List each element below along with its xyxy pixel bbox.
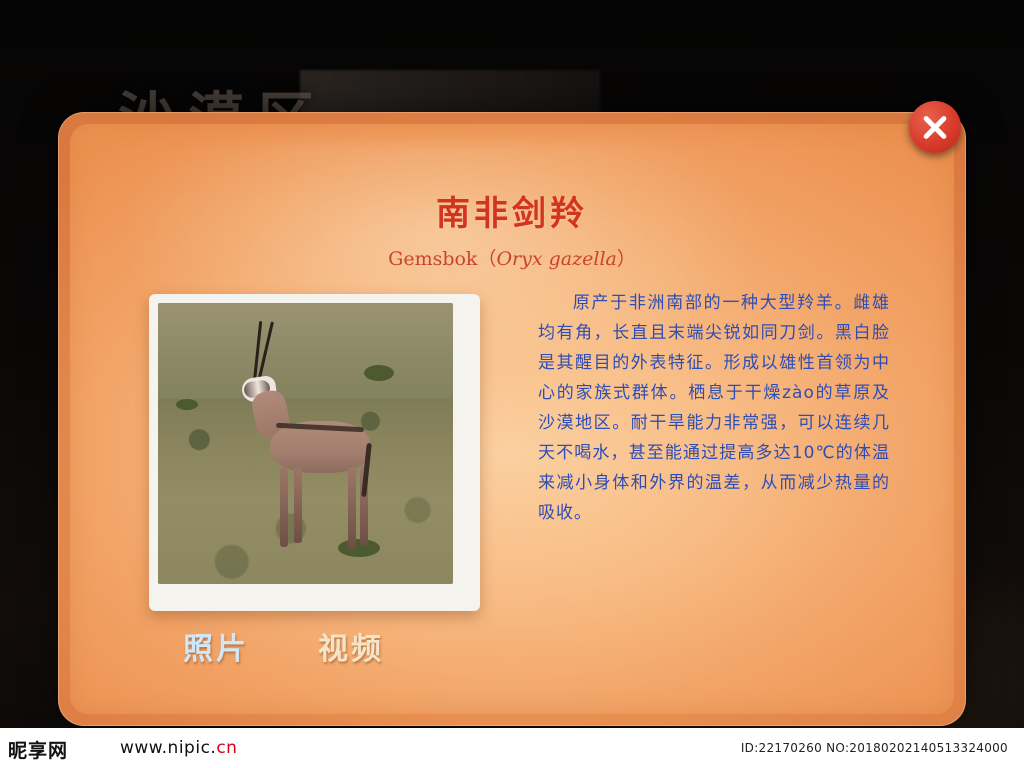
watermark-logo-text: 昵享网 bbox=[8, 740, 68, 762]
subtitle: Gemsbok（Oryx gazella） bbox=[70, 244, 954, 271]
photo-bush bbox=[338, 539, 380, 557]
photo-tab-button[interactable]: 照片 bbox=[183, 624, 249, 668]
watermark-logo: 昵享网 bbox=[8, 736, 68, 763]
photo-sky bbox=[158, 303, 453, 410]
oryx-leg bbox=[348, 467, 356, 549]
photo-bush bbox=[364, 365, 394, 381]
page-title: 南非剑羚 bbox=[70, 186, 954, 235]
oryx-leg bbox=[280, 467, 288, 547]
oryx-leg bbox=[294, 467, 302, 543]
watermark-url-main: www.nipic. bbox=[120, 738, 216, 758]
info-dialog: 南非剑羚 Gemsbok（Oryx gazella） bbox=[58, 112, 966, 726]
close-icon[interactable] bbox=[909, 101, 961, 153]
watermark-bar: 昵享网 www.nipic.cn ID:22170260 NO:20180202… bbox=[0, 728, 1024, 768]
subtitle-paren-close: ） bbox=[617, 248, 636, 270]
animal-photo bbox=[158, 303, 453, 584]
watermark-url-tld: cn bbox=[216, 738, 237, 758]
video-tab-button[interactable]: 视频 bbox=[318, 624, 384, 668]
animal-photo-frame[interactable] bbox=[149, 294, 480, 611]
screen: 沙漠区 南非剑羚 Gemsbok（Oryx gazella） bbox=[0, 0, 1024, 768]
subtitle-paren-open: （ bbox=[477, 248, 496, 270]
watermark-url: www.nipic.cn bbox=[120, 738, 237, 758]
dialog-inner-surface: 南非剑羚 Gemsbok（Oryx gazella） bbox=[70, 124, 954, 714]
photo-bush bbox=[176, 399, 198, 410]
description-text: 原产于非洲南部的一种大型羚羊。雌雄均有角，长直且末端尖锐如同刀剑。黑白脸是其醒目… bbox=[538, 288, 890, 528]
subtitle-common-name: Gemsbok bbox=[388, 248, 477, 270]
subtitle-scientific-name: Oryx gazella bbox=[496, 248, 616, 270]
description-body: 原产于非洲南部的一种大型羚羊。雌雄均有角，长直且末端尖锐如同刀剑。黑白脸是其醒目… bbox=[538, 293, 890, 523]
watermark-id: ID:22170260 NO:20180202140513324000 bbox=[741, 741, 1008, 755]
